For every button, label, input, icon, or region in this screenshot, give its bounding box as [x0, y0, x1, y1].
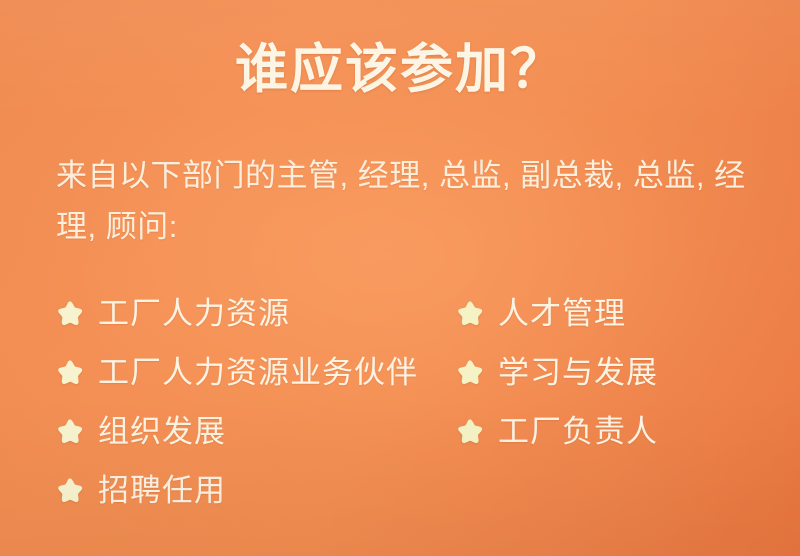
audience-description: 来自以下部门的主管, 经理, 总监, 副总裁, 总监, 经理, 顾问:	[56, 150, 768, 252]
star-icon	[56, 477, 84, 505]
star-icon	[456, 300, 484, 328]
star-icon	[56, 418, 84, 446]
audience-column-left: 工厂人力资源 工厂人力资源业务伙伴 组织发展 招聘任用	[56, 284, 456, 520]
list-item-label: 学习与发展	[498, 357, 658, 388]
list-item-label: 组织发展	[98, 416, 226, 447]
list-item: 学习与发展	[456, 343, 786, 402]
list-item-label: 人才管理	[498, 298, 626, 329]
star-icon	[456, 418, 484, 446]
list-item: 工厂人力资源	[56, 284, 456, 343]
list-item: 工厂负责人	[456, 402, 786, 461]
page-title: 谁应该参加？	[0, 40, 800, 101]
list-item: 人才管理	[456, 284, 786, 343]
list-item-label: 工厂负责人	[498, 416, 658, 447]
list-item: 工厂人力资源业务伙伴	[56, 343, 456, 402]
list-item: 招聘任用	[56, 461, 456, 520]
list-item-label: 工厂人力资源	[98, 298, 290, 329]
star-icon	[56, 359, 84, 387]
list-item-label: 招聘任用	[98, 475, 226, 506]
star-icon	[456, 359, 484, 387]
audience-column-right: 人才管理 学习与发展 工厂负责人	[456, 284, 786, 461]
list-item: 组织发展	[56, 402, 456, 461]
poster-canvas: 谁应该参加？ 来自以下部门的主管, 经理, 总监, 副总裁, 总监, 经理, 顾…	[0, 0, 800, 556]
list-item-label: 工厂人力资源业务伙伴	[98, 357, 418, 388]
star-icon	[56, 300, 84, 328]
